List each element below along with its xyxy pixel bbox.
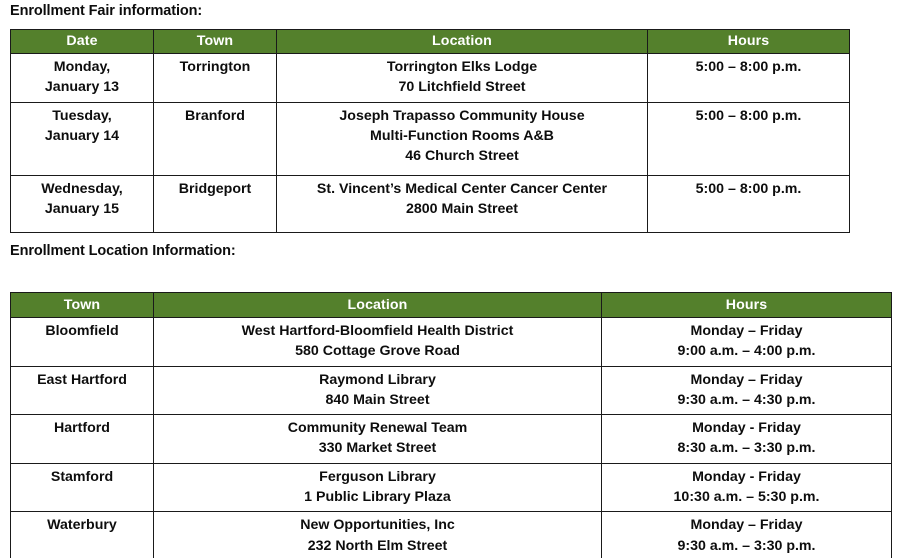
hours-line: Monday – Friday — [606, 370, 887, 390]
town-name: Torrington — [158, 57, 272, 77]
column-header-hours: Hours — [602, 293, 892, 318]
cell-location: New Opportunities, Inc 232 North Elm Str… — [154, 512, 602, 558]
table-row: Wednesday, January 15 Bridgeport St. Vin… — [11, 175, 850, 232]
cell-hours: 5:00 – 8:00 p.m. — [648, 102, 850, 175]
cell-location: Community Renewal Team 330 Market Street — [154, 415, 602, 464]
cell-town: Waterbury — [11, 512, 154, 558]
hours-line: 9:00 a.m. – 4:00 p.m. — [606, 341, 887, 361]
cell-town: Bridgeport — [154, 175, 277, 232]
location-line: Community Renewal Team — [158, 418, 597, 438]
town-name: Bridgeport — [158, 179, 272, 199]
cell-hours: Monday – Friday 9:30 a.m. – 4:30 p.m. — [602, 366, 892, 415]
date-line: January 14 — [15, 126, 149, 146]
location-line: 2800 Main Street — [281, 199, 643, 219]
cell-date: Monday, January 13 — [11, 54, 154, 103]
cell-date: Tuesday, January 14 — [11, 102, 154, 175]
column-header-location: Location — [154, 293, 602, 318]
table-header-row: Date Town Location Hours — [11, 30, 850, 54]
town-name: Branford — [158, 106, 272, 126]
table-row: East Hartford Raymond Library 840 Main S… — [11, 366, 892, 415]
cell-town: Torrington — [154, 54, 277, 103]
cell-hours: Monday - Friday 10:30 a.m. – 5:30 p.m. — [602, 463, 892, 512]
column-header-location: Location — [277, 30, 648, 54]
location-line: 70 Litchfield Street — [281, 77, 643, 97]
location-line: West Hartford-Bloomfield Health District — [158, 321, 597, 341]
enrollment-location-table: Town Location Hours Bloomfield West Hart… — [10, 292, 892, 558]
town-name: Stamford — [15, 467, 149, 487]
table-header-row: Town Location Hours — [11, 293, 892, 318]
location-line: Multi-Function Rooms A&B — [281, 126, 643, 146]
cell-hours: 5:00 – 8:00 p.m. — [648, 54, 850, 103]
cell-town: East Hartford — [11, 366, 154, 415]
location-line: Joseph Trapasso Community House — [281, 106, 643, 126]
column-header-hours: Hours — [648, 30, 850, 54]
location-line: Raymond Library — [158, 370, 597, 390]
hours-line: 10:30 a.m. – 5:30 p.m. — [606, 487, 887, 507]
enrollment-location-heading: Enrollment Location Information: — [10, 243, 236, 259]
hours-line: 9:30 a.m. – 3:30 p.m. — [606, 536, 887, 556]
town-name: East Hartford — [15, 370, 149, 390]
cell-location: St. Vincent’s Medical Center Cancer Cent… — [277, 175, 648, 232]
location-line: 1 Public Library Plaza — [158, 487, 597, 507]
cell-town: Hartford — [11, 415, 154, 464]
table-row: Hartford Community Renewal Team 330 Mark… — [11, 415, 892, 464]
column-header-town: Town — [154, 30, 277, 54]
date-line: January 13 — [15, 77, 149, 97]
date-line: Tuesday, — [15, 106, 149, 126]
location-line: 232 North Elm Street — [158, 536, 597, 556]
town-name: Bloomfield — [15, 321, 149, 341]
location-line: New Opportunities, Inc — [158, 515, 597, 535]
table-row: Stamford Ferguson Library 1 Public Libra… — [11, 463, 892, 512]
hours-line: 5:00 – 8:00 p.m. — [652, 179, 845, 199]
column-header-town: Town — [11, 293, 154, 318]
location-line: 580 Cottage Grove Road — [158, 341, 597, 361]
hours-line: 8:30 a.m. – 3:30 p.m. — [606, 438, 887, 458]
hours-line: Monday – Friday — [606, 321, 887, 341]
location-line: 840 Main Street — [158, 390, 597, 410]
cell-location: Ferguson Library 1 Public Library Plaza — [154, 463, 602, 512]
town-name: Hartford — [15, 418, 149, 438]
cell-hours: 5:00 – 8:00 p.m. — [648, 175, 850, 232]
table-row: Monday, January 13 Torrington Torrington… — [11, 54, 850, 103]
date-line: Wednesday, — [15, 179, 149, 199]
table-row: Waterbury New Opportunities, Inc 232 Nor… — [11, 512, 892, 558]
location-line: 330 Market Street — [158, 438, 597, 458]
cell-location: West Hartford-Bloomfield Health District… — [154, 318, 602, 367]
hours-line: 5:00 – 8:00 p.m. — [652, 106, 845, 126]
cell-town: Stamford — [11, 463, 154, 512]
document-page: Enrollment Fair information: Date Town L… — [0, 0, 900, 558]
location-line: Torrington Elks Lodge — [281, 57, 643, 77]
cell-location: Torrington Elks Lodge 70 Litchfield Stre… — [277, 54, 648, 103]
cell-date: Wednesday, January 15 — [11, 175, 154, 232]
table-row: Bloomfield West Hartford-Bloomfield Heal… — [11, 318, 892, 367]
cell-location: Raymond Library 840 Main Street — [154, 366, 602, 415]
hours-line: Monday – Friday — [606, 515, 887, 535]
location-line: Ferguson Library — [158, 467, 597, 487]
hours-line: 9:30 a.m. – 4:30 p.m. — [606, 390, 887, 410]
date-line: January 15 — [15, 199, 149, 219]
hours-line: 5:00 – 8:00 p.m. — [652, 57, 845, 77]
column-header-date: Date — [11, 30, 154, 54]
cell-hours: Monday – Friday 9:30 a.m. – 3:30 p.m. — [602, 512, 892, 558]
enrollment-fair-heading: Enrollment Fair information: — [10, 3, 202, 19]
table-row: Tuesday, January 14 Branford Joseph Trap… — [11, 102, 850, 175]
date-line: Monday, — [15, 57, 149, 77]
town-name: Waterbury — [15, 515, 149, 535]
cell-location: Joseph Trapasso Community House Multi-Fu… — [277, 102, 648, 175]
location-line: 46 Church Street — [281, 146, 643, 166]
hours-line: Monday - Friday — [606, 467, 887, 487]
cell-hours: Monday – Friday 9:00 a.m. – 4:00 p.m. — [602, 318, 892, 367]
hours-line: Monday - Friday — [606, 418, 887, 438]
enrollment-fair-table: Date Town Location Hours Monday, January… — [10, 29, 850, 233]
cell-hours: Monday - Friday 8:30 a.m. – 3:30 p.m. — [602, 415, 892, 464]
cell-town: Bloomfield — [11, 318, 154, 367]
location-line: St. Vincent’s Medical Center Cancer Cent… — [281, 179, 643, 199]
cell-town: Branford — [154, 102, 277, 175]
